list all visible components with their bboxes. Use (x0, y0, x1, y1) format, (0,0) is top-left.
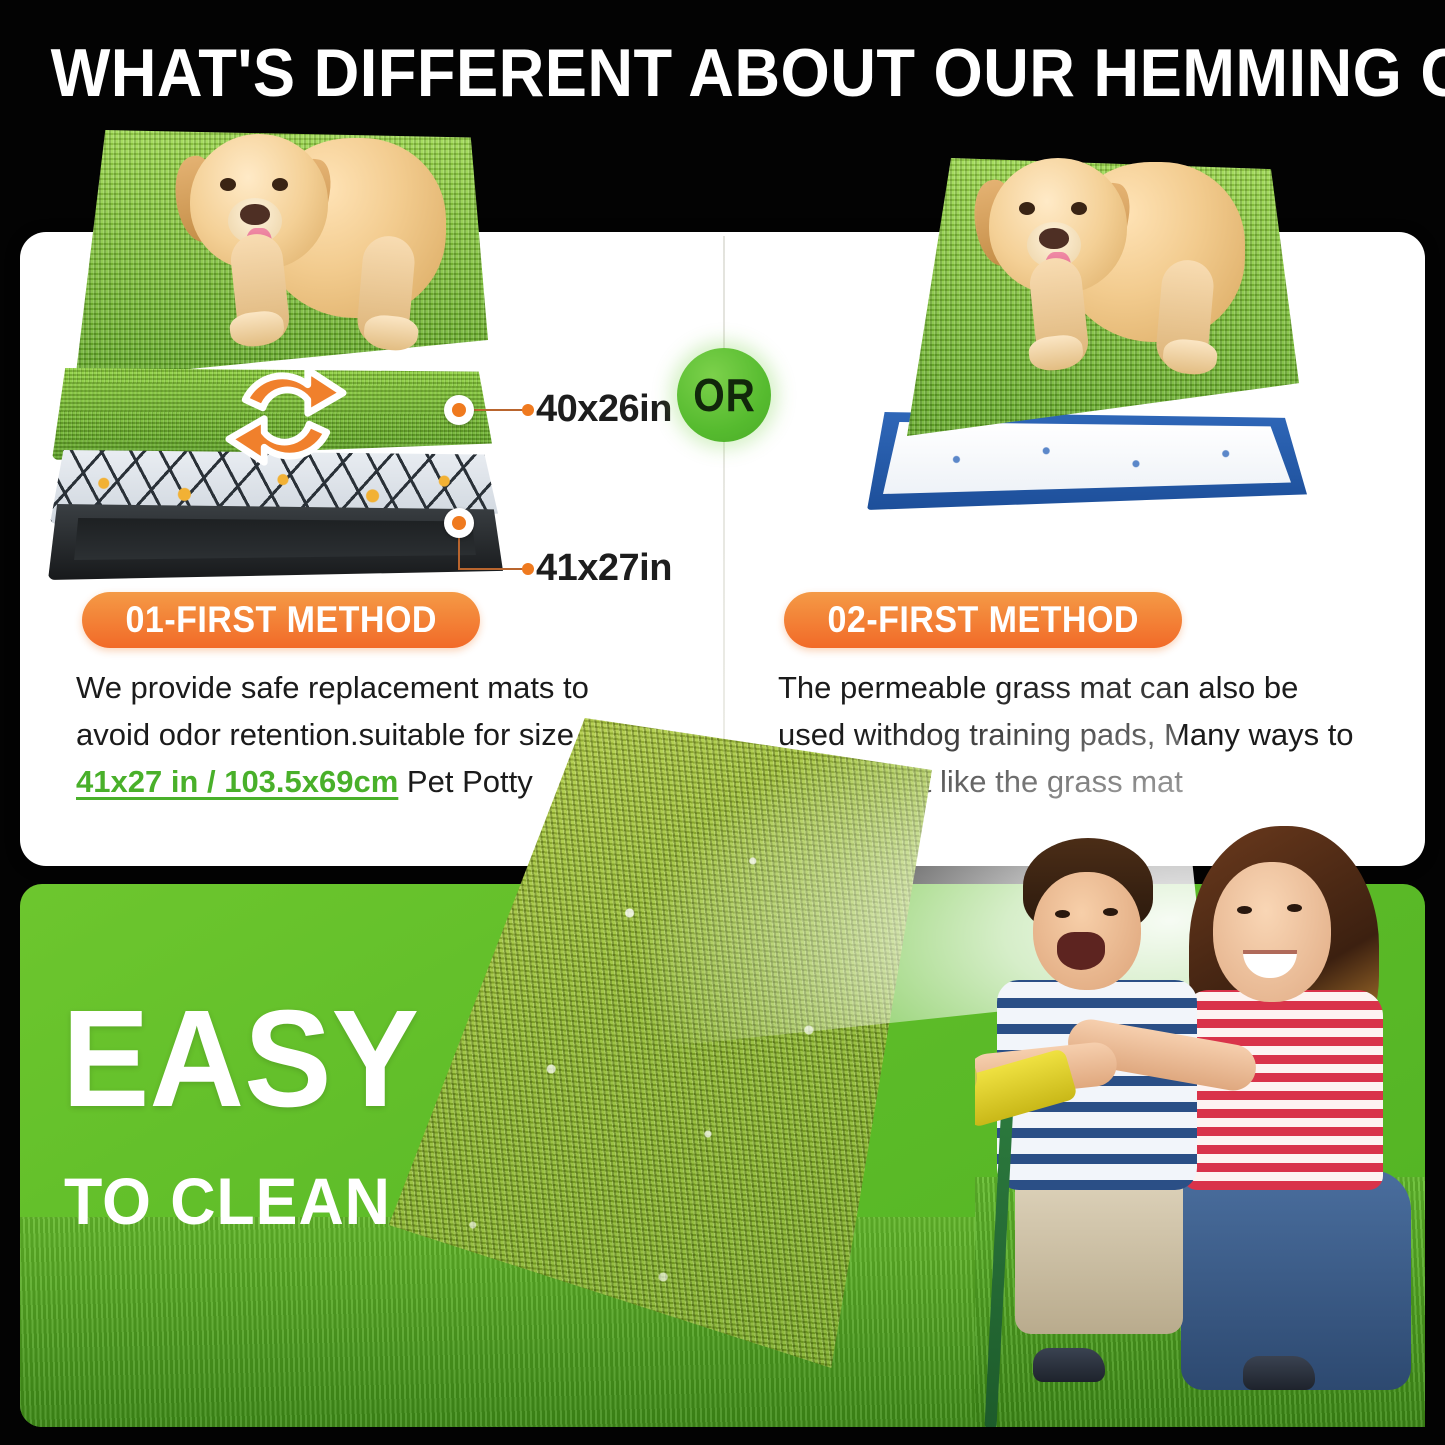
callout-line-grass-mat (474, 409, 526, 411)
method-badge-01-label: 01-FIRST METHOD (126, 599, 437, 641)
boy-shoe (1033, 1348, 1105, 1382)
method-01-line-1: We provide safe replacement mats to (76, 664, 656, 711)
woman-shoe (1243, 1356, 1315, 1390)
method-badge-02: 02-FIRST METHOD (784, 592, 1182, 648)
callout-line-tray-horizontal (458, 568, 526, 570)
woman-torso (1183, 990, 1383, 1190)
woman-face (1213, 862, 1331, 1002)
callout-dot-grass-mat (444, 395, 474, 425)
method-badge-01: 01-FIRST METHOD (82, 592, 480, 648)
swap-arrows-icon (218, 348, 354, 484)
infographic-stage: WHAT'S DIFFERENT ABOUT OUR HEMMING GRASS… (0, 0, 1445, 1445)
method-badge-02-label: 02-FIRST METHOD (828, 599, 1139, 641)
dog-paw-right (362, 313, 419, 352)
method-01-size-highlight: 41x27 in / 103.5x69cm (76, 764, 398, 799)
black-tray-inner (70, 518, 480, 560)
method-02-line-2: used withdog training pads, Many ways to (778, 711, 1408, 758)
dog-nose (1039, 228, 1069, 249)
callout-endpoint-tray (522, 563, 534, 575)
people-washing-photo (975, 800, 1425, 1427)
product-image-grass-over-pad (855, 150, 1325, 550)
dog-nose (240, 204, 270, 225)
dog-paw-right (1161, 337, 1218, 376)
dog-eye-right (272, 178, 288, 191)
callout-dot-tray (444, 508, 474, 538)
or-badge: OR (677, 348, 771, 442)
dog-eye-left (1019, 202, 1035, 215)
boy-mouth (1057, 932, 1105, 970)
dog-icon (967, 140, 1247, 440)
boy-eye-right (1103, 908, 1118, 916)
dog-eye-left (220, 178, 236, 191)
page-title: WHAT'S DIFFERENT ABOUT OUR HEMMING GRASS… (51, 34, 1395, 112)
woman-eye-right (1287, 904, 1302, 912)
method-01-line-2: avoid odor retention.suitable for size (76, 711, 656, 758)
callout-endpoint-grass-mat (522, 404, 534, 416)
method-01-body-tail: Pet Potty (398, 764, 532, 799)
boy-eye-left (1055, 910, 1070, 918)
callout-label-grass-mat: 40x26in (536, 388, 672, 431)
dog-eye-right (1071, 202, 1087, 215)
boy-shorts (1015, 1172, 1183, 1334)
callout-line-tray-vertical (458, 538, 460, 570)
method-02-line-1: The permeable grass mat can also be (778, 664, 1408, 711)
easy-title: EASY (62, 990, 419, 1128)
or-badge-label: OR (693, 368, 755, 422)
boy-face (1033, 872, 1141, 990)
easy-subtitle: TO CLEAN (64, 1168, 391, 1234)
woman-eye-left (1237, 906, 1252, 914)
callout-label-tray: 41x27in (536, 547, 672, 590)
